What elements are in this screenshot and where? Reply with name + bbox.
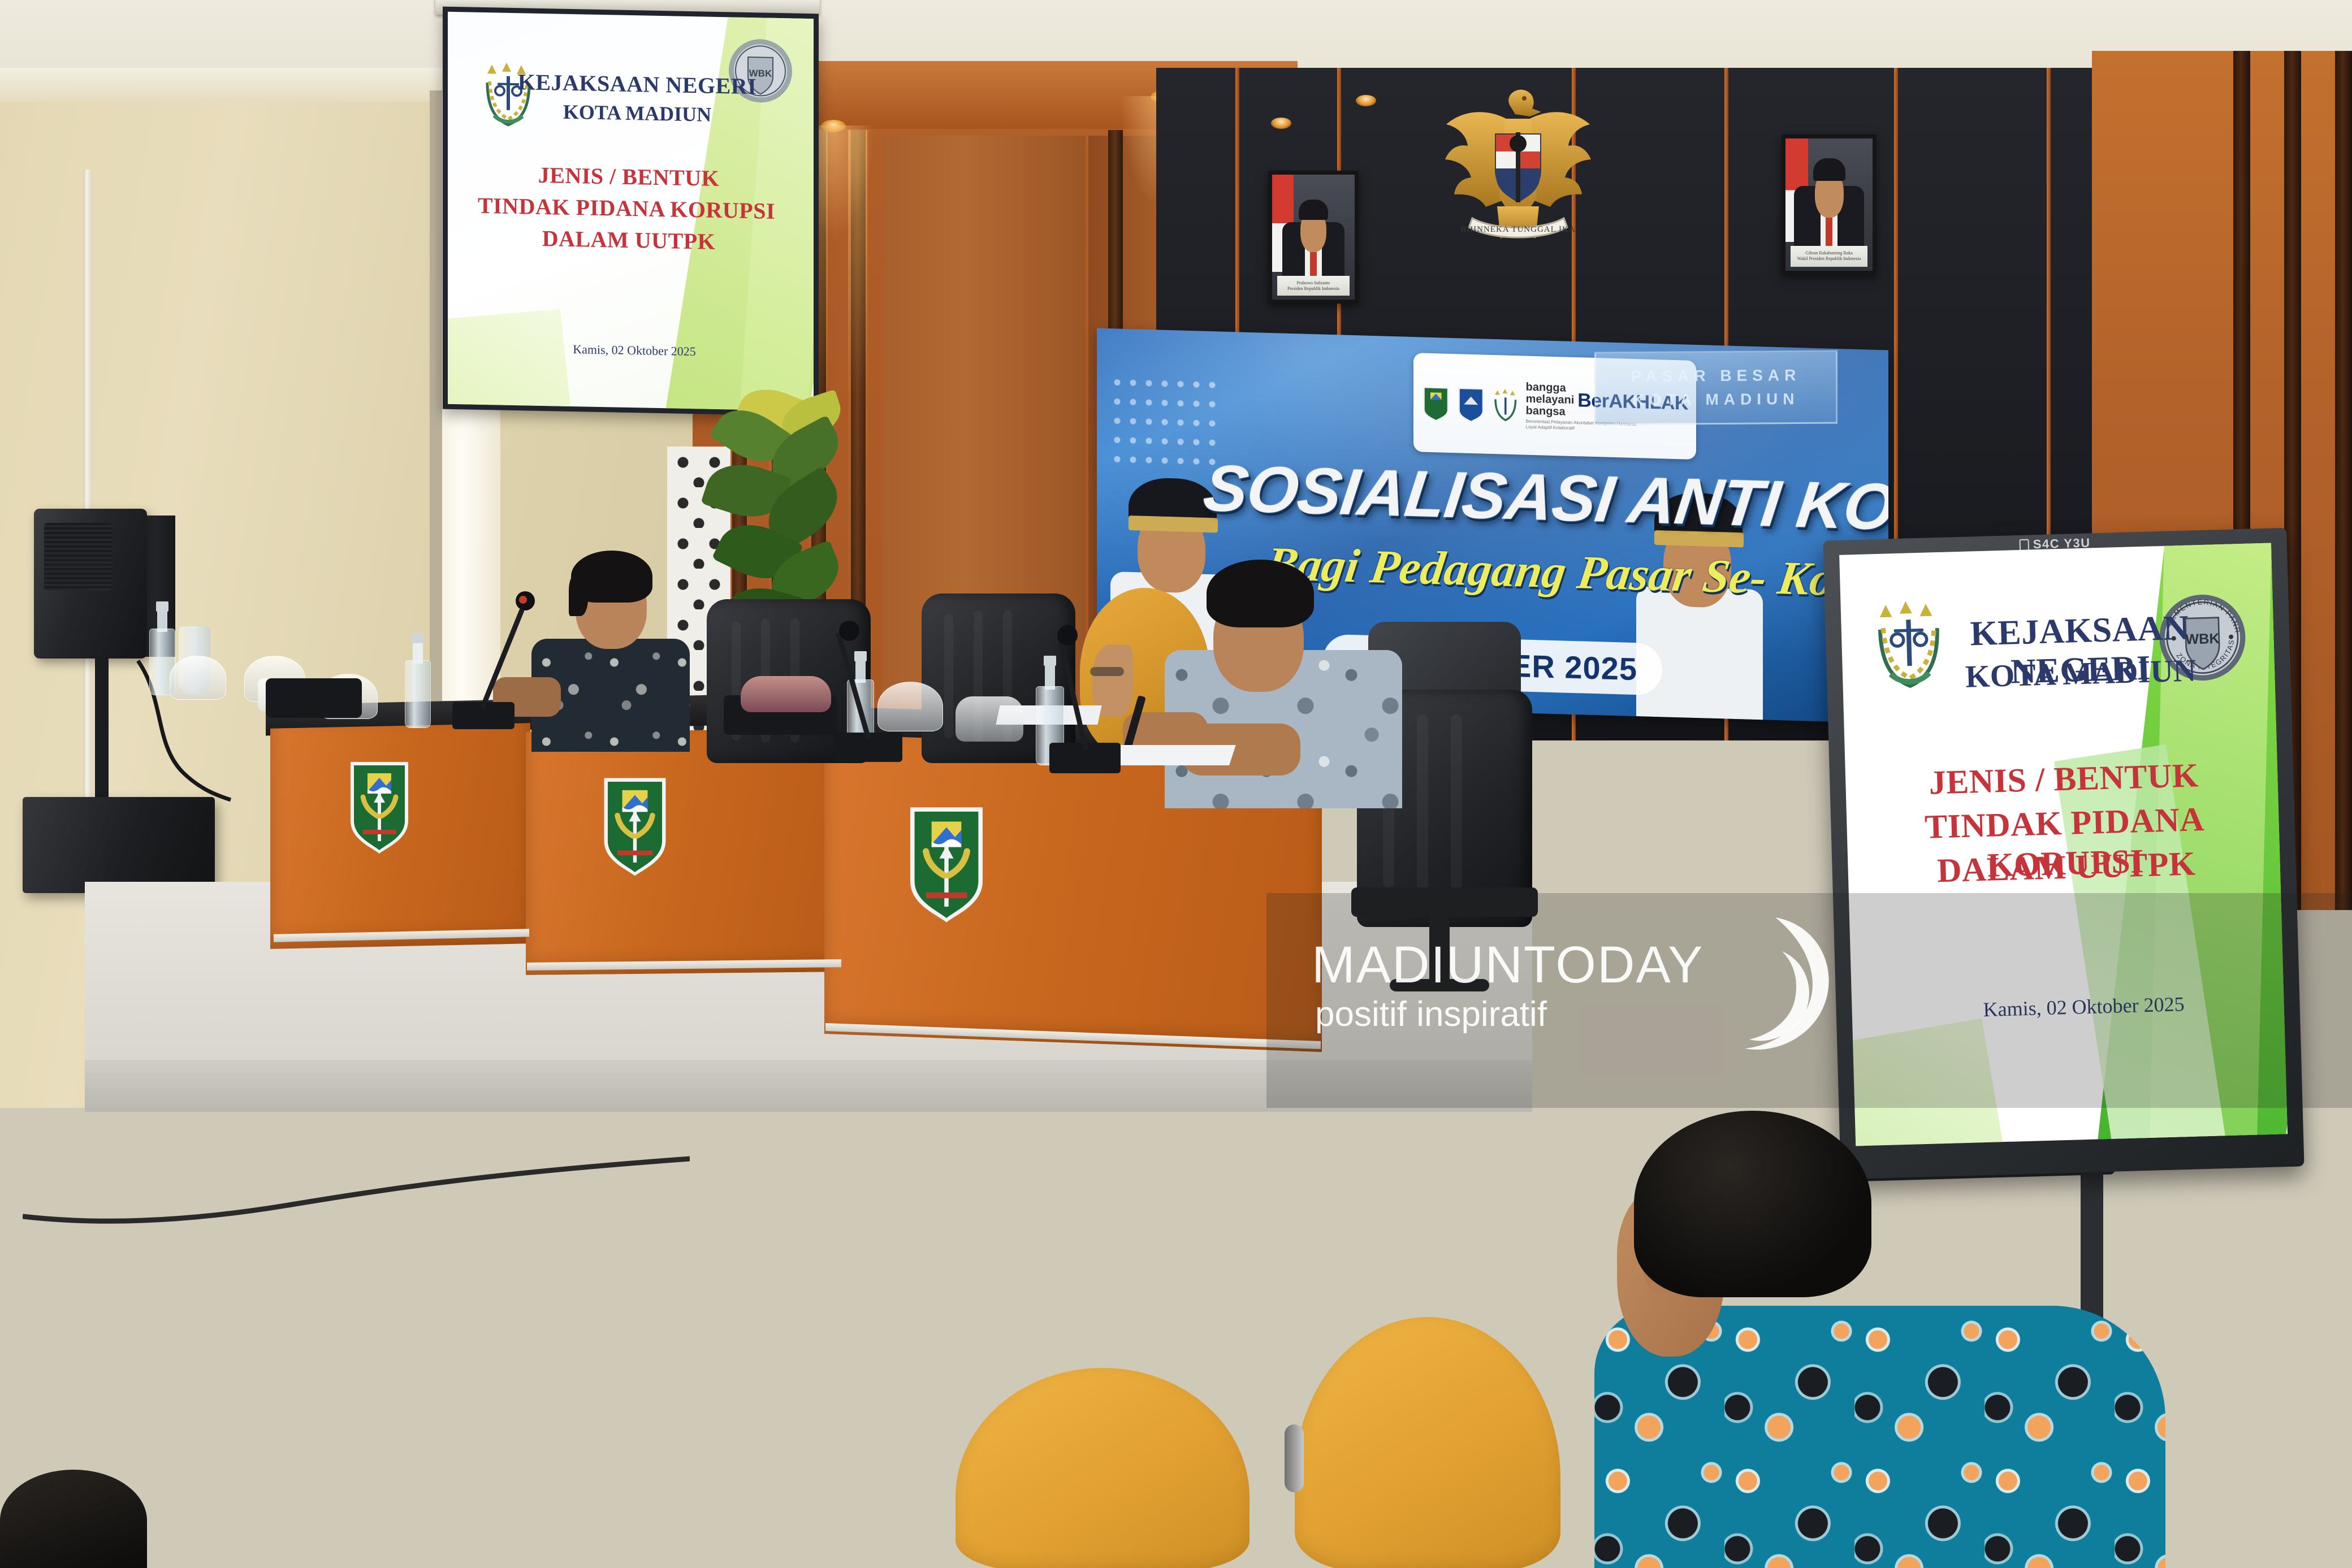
swoosh-icon <box>1690 909 1837 1062</box>
portrait-president-name: Prabowo Subianto <box>1297 280 1330 286</box>
window-frame <box>430 90 442 707</box>
watermark: MADIUNTODAY positif inspiratif <box>1312 935 1821 1065</box>
projector-main-line3: DALAM UUTPK <box>482 224 776 256</box>
fruit-platter <box>741 676 831 712</box>
projector-main-line2: TINDAK PIDANA KORUPSI <box>468 192 785 224</box>
audience-batik-man-hair <box>1634 1111 1871 1297</box>
microphone-indicator-led <box>519 596 527 604</box>
loudspeaker-grill <box>44 523 112 591</box>
floor-cable <box>23 1153 690 1227</box>
wall-lamp-icon <box>1271 118 1291 129</box>
photo-scene: BHINNEKA TUNGGAL IKA Prabowo Subianto Pr… <box>0 0 2352 1568</box>
portrait-vice-president-name: Gibran Rakabuming Raka <box>1805 250 1853 256</box>
wall-lamp-icon <box>1356 95 1376 106</box>
portrait-president-role: Presiden Republik Indonesia <box>1287 286 1339 292</box>
kota-madiun-crest-icon <box>346 757 413 858</box>
portrait-vice-president-role: Wakil Presiden Republik Indonesia <box>1797 256 1861 262</box>
jawa-timur-crest-icon <box>1456 384 1486 424</box>
projector-main-line1: JENIS / BENTUK <box>482 161 776 193</box>
portrait-vice-president: Gibran Rakabuming Raka Wakil Presiden Re… <box>1782 135 1877 275</box>
projector-screen: WBK KEJAKSAAN NEGERI KOTA MADIUN JENIS /… <box>443 7 819 417</box>
pa-subwoofer-icon <box>23 797 215 893</box>
speaker-stand-pole <box>95 656 109 803</box>
kota-madiun-crest-icon <box>1421 383 1451 423</box>
audience-foreground-head <box>0 1470 147 1568</box>
microphone <box>823 615 936 762</box>
snack-cover-dome <box>170 656 226 700</box>
garuda-pancasila-icon: BHINNEKA TUNGGAL IKA <box>1425 85 1611 254</box>
portrait-president: Prabowo Subianto Presiden Republik Indon… <box>1268 171 1359 304</box>
audience-hijab-1 <box>955 1368 1249 1568</box>
signboard-line1: PASAR BESAR <box>1631 363 1801 388</box>
microphone <box>452 588 565 729</box>
microphone <box>1032 621 1151 773</box>
projector-org-line1: KEJAKSAAN NEGERI <box>516 70 759 99</box>
snack-cover-dome <box>955 696 1023 742</box>
banner-market-signboard: PASAR BESAR KOTA MADIUN <box>1594 350 1837 426</box>
kejaksaan-crest-icon <box>1491 384 1520 425</box>
watermark-tagline: positif inspiratif <box>1315 994 1547 1034</box>
eyeglasses-temple-icon <box>1285 1424 1304 1492</box>
watermark-brand: MADIUNTODAY <box>1312 935 1704 995</box>
water-bottle <box>405 632 431 728</box>
banner-slogan-line3: bangsa <box>1526 405 1575 418</box>
signboard-line2: KOTA MADIUN <box>1633 387 1800 412</box>
kota-madiun-crest-icon <box>905 802 988 928</box>
garuda-motto: BHINNEKA TUNGGAL IKA <box>1460 225 1575 234</box>
kota-madiun-crest-icon <box>599 773 671 881</box>
serving-tray <box>266 678 362 718</box>
audience-hijab-2 <box>1295 1317 1560 1568</box>
projector-org-line2: KOTA MADIUN <box>516 99 759 127</box>
wood-slat <box>2335 51 2352 910</box>
